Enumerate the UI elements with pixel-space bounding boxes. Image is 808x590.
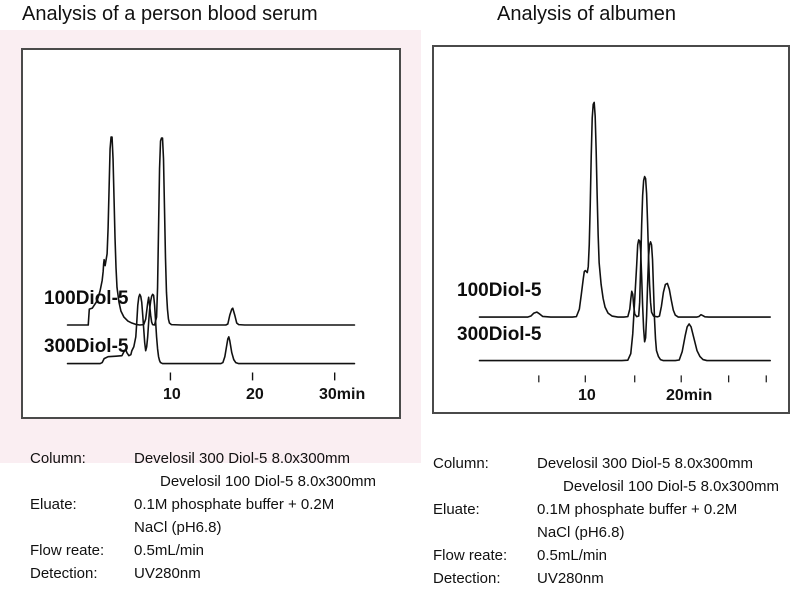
- caption-left: Column: Develosil 300 Diol-5 8.0x300mm D…: [30, 447, 376, 585]
- caption-key: Column:: [30, 447, 134, 470]
- chromatogram-plot-blood-serum: 10 20 30min: [21, 48, 401, 419]
- caption-row: Eluate: 0.1M phosphate buffer + 0.2M: [30, 493, 376, 516]
- caption-key: [30, 470, 160, 493]
- caption-key: Eluate:: [433, 498, 537, 521]
- chromatogram-plot-albumen: 10 20min: [432, 45, 790, 414]
- trace-label-right-300diol5: 300Diol-5: [457, 324, 541, 346]
- caption-row: Develosil 100 Diol-5 8.0x300mm: [30, 470, 376, 493]
- caption-row: Eluate: 0.1M phosphate buffer + 0.2M: [433, 498, 779, 521]
- caption-row: Flow reate: 0.5mL/min: [433, 544, 779, 567]
- caption-value: Develosil 300 Diol-5 8.0x300mm: [134, 447, 350, 470]
- caption-value: 0.1M phosphate buffer + 0.2M: [537, 498, 737, 521]
- axis-ticks-left: [170, 372, 334, 380]
- caption-value: UV280nm: [537, 567, 604, 590]
- axis-tick-label-left-1: 20: [246, 386, 264, 404]
- chromatogram-traces-left: [23, 50, 399, 417]
- caption-row: Detection: UV280nm: [433, 567, 779, 590]
- caption-row: Detection: UV280nm: [30, 562, 376, 585]
- caption-value: 0.1M phosphate buffer + 0.2M: [134, 493, 334, 516]
- caption-value: Develosil 300 Diol-5 8.0x300mm: [537, 452, 753, 475]
- caption-row: Develosil 100 Diol-5 8.0x300mm: [433, 475, 779, 498]
- caption-value: Develosil 100 Diol-5 8.0x300mm: [160, 470, 376, 493]
- page-title-left: Analysis of a person blood serum: [22, 3, 318, 26]
- caption-key: [433, 475, 563, 498]
- chromatogram-traces-right: [434, 47, 788, 412]
- caption-key: Flow reate:: [30, 539, 134, 562]
- caption-key: Detection:: [433, 567, 537, 590]
- chromatogram-figure: Analysis of a person blood serum Analysi…: [0, 0, 808, 589]
- axis-tick-label-left-2: 30min: [319, 386, 365, 404]
- caption-key: Detection:: [30, 562, 134, 585]
- caption-value: NaCl (pH6.8): [537, 521, 625, 544]
- axis-tick-label-right-0: 10: [578, 387, 596, 405]
- caption-key: Eluate:: [30, 493, 134, 516]
- caption-row: Column: Develosil 300 Diol-5 8.0x300mm: [433, 452, 779, 475]
- trace-label-right-100diol5: 100Diol-5: [457, 280, 541, 302]
- caption-value: 0.5mL/min: [134, 539, 204, 562]
- caption-value: Develosil 100 Diol-5 8.0x300mm: [563, 475, 779, 498]
- caption-key: [30, 516, 134, 539]
- caption-key: Column:: [433, 452, 537, 475]
- axis-tick-label-right-1: 20min: [666, 387, 712, 405]
- caption-value: NaCl (pH6.8): [134, 516, 222, 539]
- caption-value: 0.5mL/min: [537, 544, 607, 567]
- axis-ticks-right: [539, 375, 766, 382]
- caption-row: Column: Develosil 300 Diol-5 8.0x300mm: [30, 447, 376, 470]
- axis-tick-label-left-0: 10: [163, 386, 181, 404]
- caption-right: Column: Develosil 300 Diol-5 8.0x300mm D…: [433, 452, 779, 590]
- caption-row: NaCl (pH6.8): [433, 521, 779, 544]
- caption-key: Flow reate:: [433, 544, 537, 567]
- caption-row: NaCl (pH6.8): [30, 516, 376, 539]
- page-title-right: Analysis of albumen: [497, 3, 676, 26]
- caption-key: [433, 521, 537, 544]
- trace-label-left-100diol5: 100Diol-5: [44, 288, 128, 310]
- caption-value: UV280nm: [134, 562, 201, 585]
- caption-row: Flow reate: 0.5mL/min: [30, 539, 376, 562]
- trace-label-left-300diol5: 300Diol-5: [44, 336, 128, 358]
